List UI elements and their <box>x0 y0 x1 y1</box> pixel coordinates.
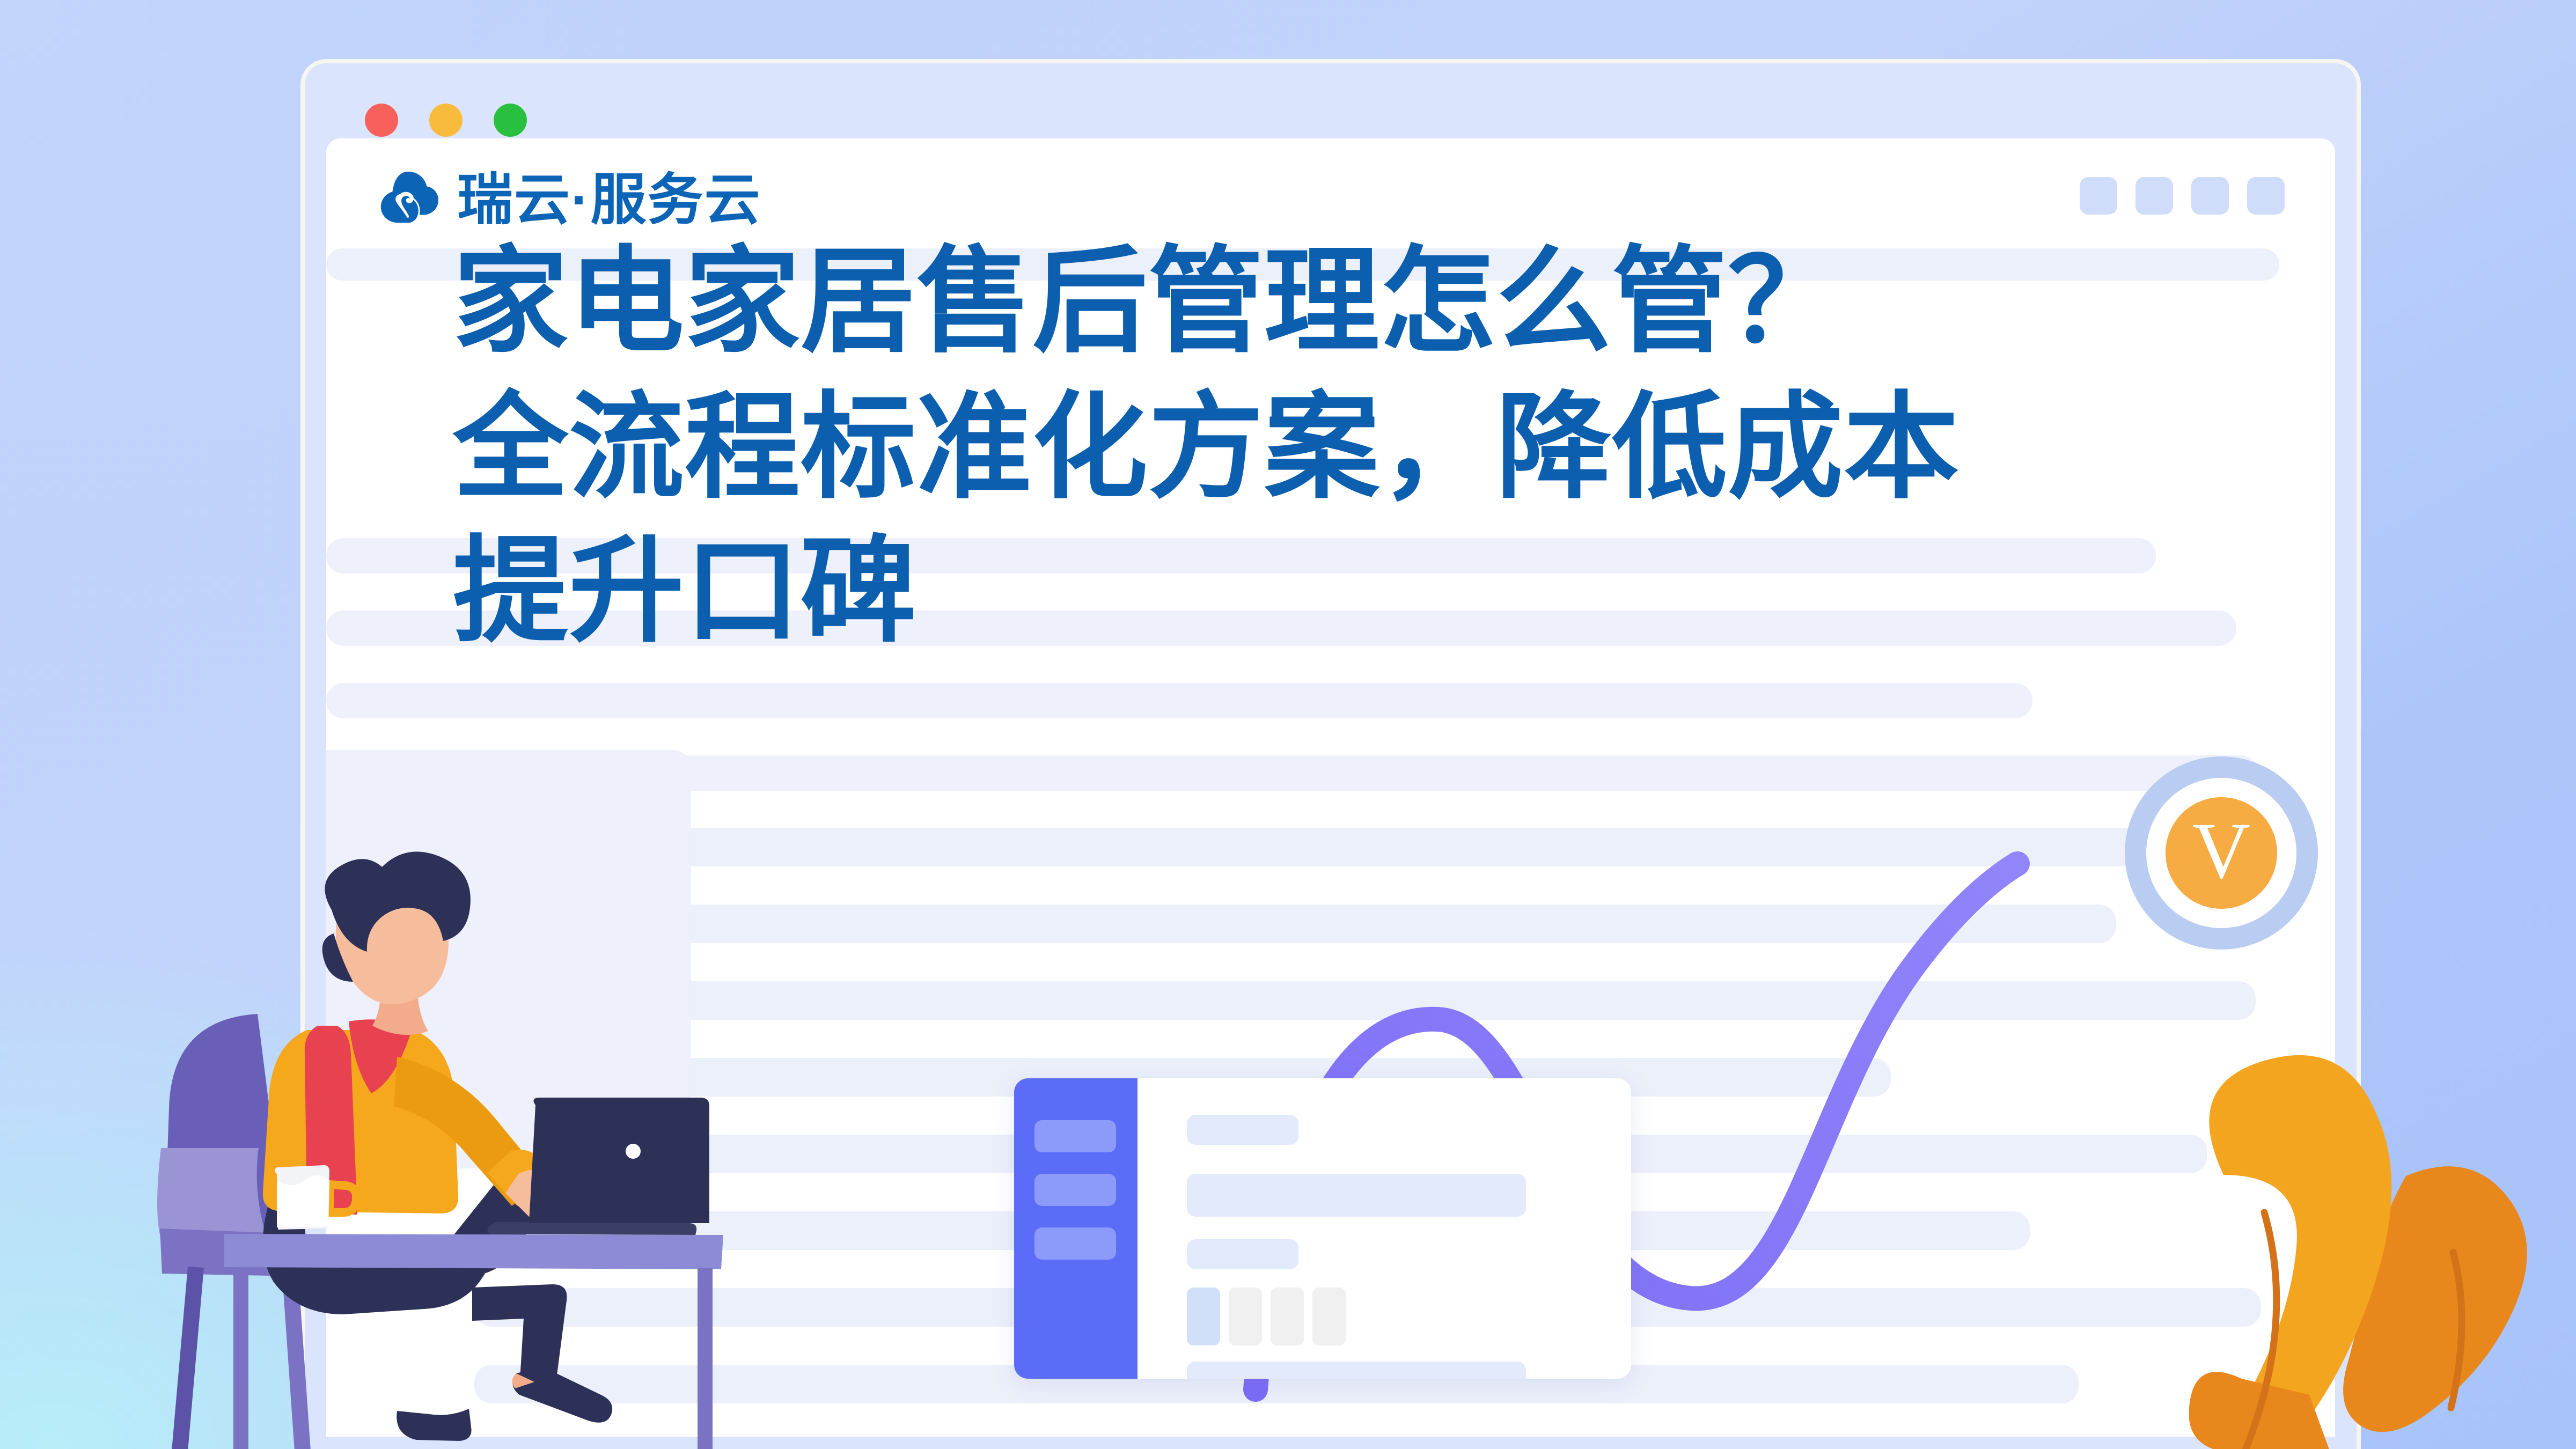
page-title: 家电家居售后管理怎么管？ 全流程标准化方案，降低成本 提升口碑 <box>453 229 2223 664</box>
skeleton-row <box>326 683 2032 718</box>
orange-leaf-decoration <box>2189 1035 2576 1449</box>
verified-badge[interactable]: V <box>2166 797 2277 909</box>
card-chip[interactable] <box>1271 1288 1304 1345</box>
brand-header[interactable]: 瑞云·服务云 <box>376 168 761 232</box>
card-sidebar-item-2[interactable] <box>1034 1174 1116 1206</box>
traffic-lights <box>365 104 527 137</box>
brand-name: 瑞云·服务云 <box>457 172 761 228</box>
minimize-button-icon[interactable] <box>429 104 463 137</box>
dashboard-card[interactable] <box>1014 1078 1631 1379</box>
header-square-4[interactable] <box>2247 177 2285 215</box>
close-button-icon[interactable] <box>365 104 398 137</box>
card-sidebar-item-3[interactable] <box>1034 1227 1116 1260</box>
maximize-button-icon[interactable] <box>494 104 527 137</box>
headline-line-3: 提升口碑 <box>453 518 2223 664</box>
headline-line-1: 家电家居售后管理怎么管？ <box>453 234 1844 369</box>
card-row-wide <box>1187 1174 1526 1217</box>
card-sidebar-item-1[interactable] <box>1034 1120 1116 1152</box>
ruiyun-cloud-logo-icon <box>376 168 439 232</box>
card-chip[interactable] <box>1312 1288 1346 1345</box>
card-row-label <box>1187 1115 1298 1145</box>
headline-line-2: 全流程标准化方案，降低成本 <box>453 380 1959 514</box>
verified-badge-letter: V <box>2192 811 2250 891</box>
card-sidebar <box>1014 1078 1137 1379</box>
card-chip[interactable] <box>1229 1288 1262 1345</box>
header-square-3[interactable] <box>2191 177 2229 215</box>
header-square-1[interactable] <box>2080 177 2117 215</box>
poster-canvas: 瑞云·服务云 <box>0 0 2576 1449</box>
card-row-footer <box>1187 1362 1526 1379</box>
person-working-on-laptop <box>97 805 740 1449</box>
header-action-squares <box>2080 177 2285 215</box>
header-square-2[interactable] <box>2135 177 2173 215</box>
card-chip-active[interactable] <box>1187 1288 1220 1345</box>
browser-titlebar <box>305 63 2357 138</box>
card-body <box>1175 1078 1631 1379</box>
card-row-label <box>1187 1239 1298 1269</box>
